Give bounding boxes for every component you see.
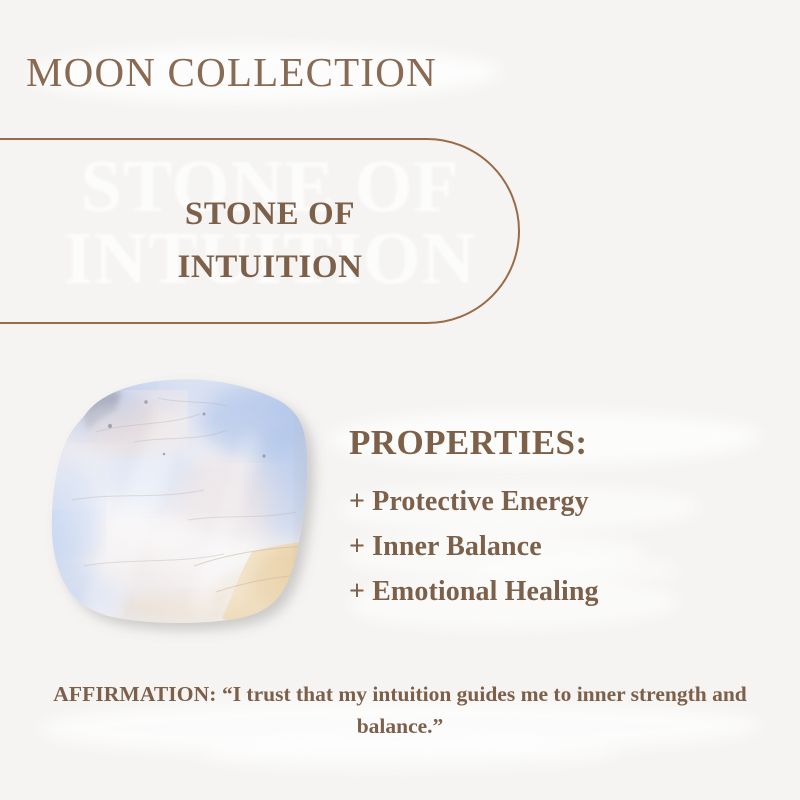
headline: STONE OF INTUITION [30,188,510,294]
affirmation-block: AFFIRMATION: “I trust that my intuition … [36,678,764,743]
affirmation-label: AFFIRMATION: [53,682,222,706]
headline-line-1: STONE OF [30,188,510,241]
crystal-info-card: MOON COLLECTION STONE OF INTUITION STONE… [0,0,800,800]
headline-line-2: INTUITION [30,241,510,294]
property-item: + Inner Balance [349,524,599,569]
affirmation-quote: “I trust that my intuition guides me to … [222,682,747,738]
moonstone-crystal-icon [38,370,328,650]
collection-title: MOON COLLECTION [26,48,437,96]
properties-section: PROPERTIES: + Protective Energy + Inner … [349,425,599,615]
property-item: + Emotional Healing [349,569,599,614]
property-item: + Protective Energy [349,479,599,524]
properties-heading: PROPERTIES: [349,425,599,462]
